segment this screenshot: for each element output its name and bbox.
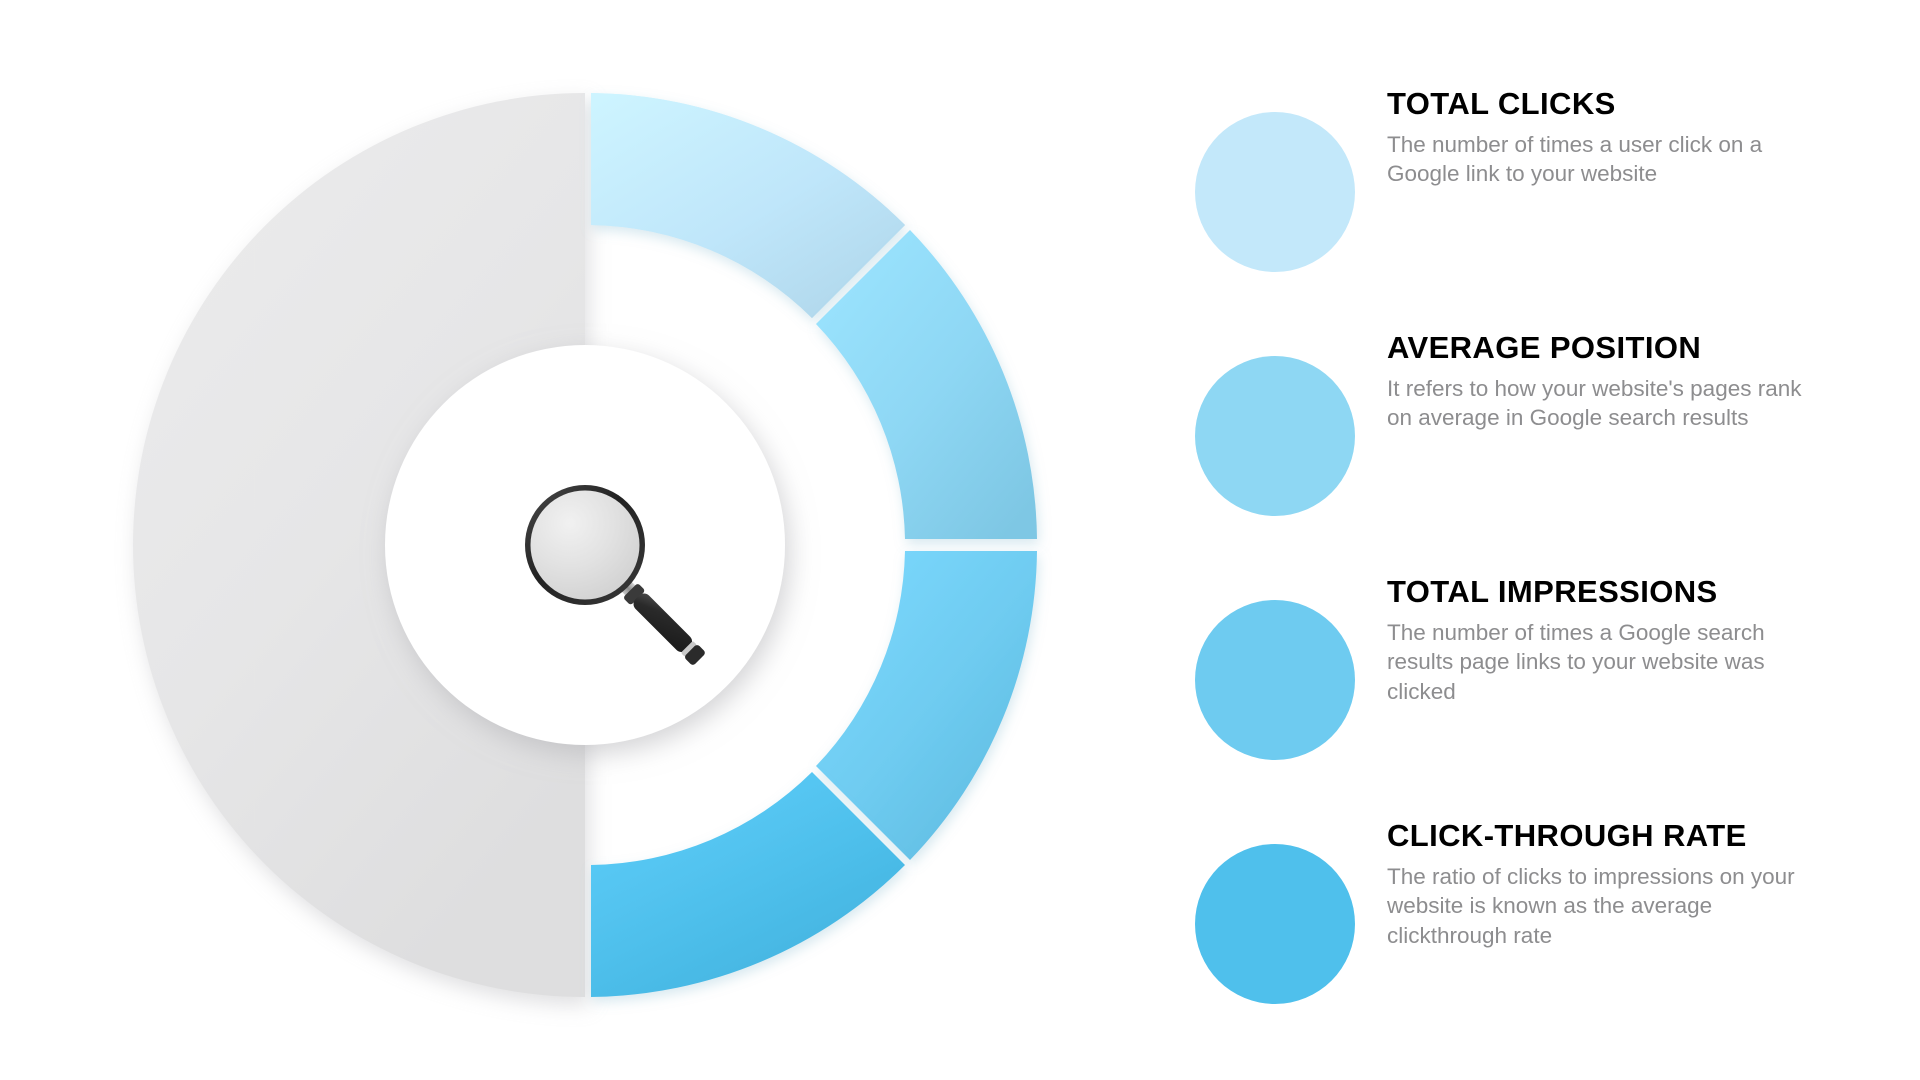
- legend-item-total-impressions[interactable]: TOTAL IMPRESSIONS The number of times a …: [1195, 576, 1895, 776]
- legend-text-block: CLICK-THROUGH RATE The ratio of clicks t…: [1387, 820, 1827, 951]
- donut-chart-svg: [100, 50, 1080, 1050]
- legend-dot-click-through-rate: [1195, 844, 1355, 1004]
- legend-dot-total-clicks: [1195, 112, 1355, 272]
- legend-item-average-position[interactable]: AVERAGE POSITION It refers to how your w…: [1195, 332, 1895, 532]
- legend-description: The number of times a user click on a Go…: [1387, 130, 1817, 189]
- legend-text-block: AVERAGE POSITION It refers to how your w…: [1387, 332, 1827, 433]
- legend-description: The ratio of clicks to impressions on yo…: [1387, 862, 1817, 951]
- legend-dot-average-position: [1195, 356, 1355, 516]
- legend-title: TOTAL IMPRESSIONS: [1387, 576, 1827, 609]
- legend-item-total-clicks[interactable]: TOTAL CLICKS The number of times a user …: [1195, 88, 1895, 288]
- infographic-canvas: TOTAL CLICKS The number of times a user …: [0, 0, 1920, 1080]
- legend-description: The number of times a Google search resu…: [1387, 618, 1817, 707]
- legend-title: AVERAGE POSITION: [1387, 332, 1827, 365]
- legend-description: It refers to how your website's pages ra…: [1387, 374, 1817, 433]
- legend-title: CLICK-THROUGH RATE: [1387, 820, 1827, 853]
- legend-title: TOTAL CLICKS: [1387, 88, 1827, 121]
- legend-list: TOTAL CLICKS The number of times a user …: [1195, 60, 1895, 1060]
- donut-chart: [100, 50, 1080, 1050]
- legend-text-block: TOTAL CLICKS The number of times a user …: [1387, 88, 1827, 189]
- legend-item-click-through-rate[interactable]: CLICK-THROUGH RATE The ratio of clicks t…: [1195, 820, 1895, 1020]
- legend-dot-total-impressions: [1195, 600, 1355, 760]
- legend-text-block: TOTAL IMPRESSIONS The number of times a …: [1387, 576, 1827, 707]
